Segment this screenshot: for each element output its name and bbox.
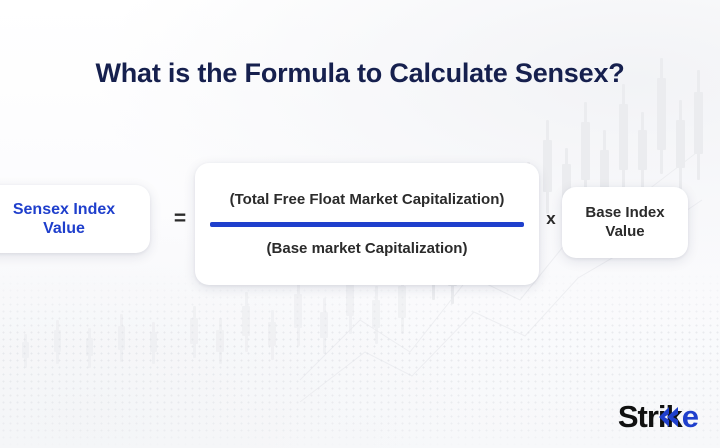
base-index-value-label: Base Index Value — [585, 204, 664, 242]
fraction-card: (Total Free Float Market Capitalization)… — [195, 163, 539, 285]
strike-logo-wordmark: Strike — [618, 401, 698, 432]
formula-container: Sensex Index Value = (Total Free Float M… — [0, 150, 720, 295]
sensex-index-value-card: Sensex Index Value — [0, 185, 150, 253]
page-title: What is the Formula to Calculate Sensex? — [0, 58, 720, 89]
base-index-value-card: Base Index Value — [562, 187, 688, 258]
strike-logo: Strike — [618, 401, 698, 432]
slide-canvas: What is the Formula to Calculate Sensex?… — [0, 0, 720, 448]
fraction-numerator: (Total Free Float Market Capitalization) — [230, 191, 505, 208]
chevron-left-icon — [659, 406, 679, 428]
base-index-value-line1: Base Index — [585, 204, 664, 221]
sensex-index-value-line2: Value — [43, 220, 85, 237]
fraction-denominator: (Base market Capitalization) — [267, 240, 468, 257]
equals-operator: = — [168, 207, 192, 231]
fraction-bar — [210, 222, 524, 227]
base-index-value-line2: Value — [605, 223, 644, 240]
sensex-index-value-line1: Sensex Index — [13, 201, 115, 218]
strike-logo-text-part3: e — [682, 399, 698, 434]
multiply-operator: x — [540, 209, 562, 229]
sensex-index-value-label: Sensex Index Value — [13, 200, 115, 238]
